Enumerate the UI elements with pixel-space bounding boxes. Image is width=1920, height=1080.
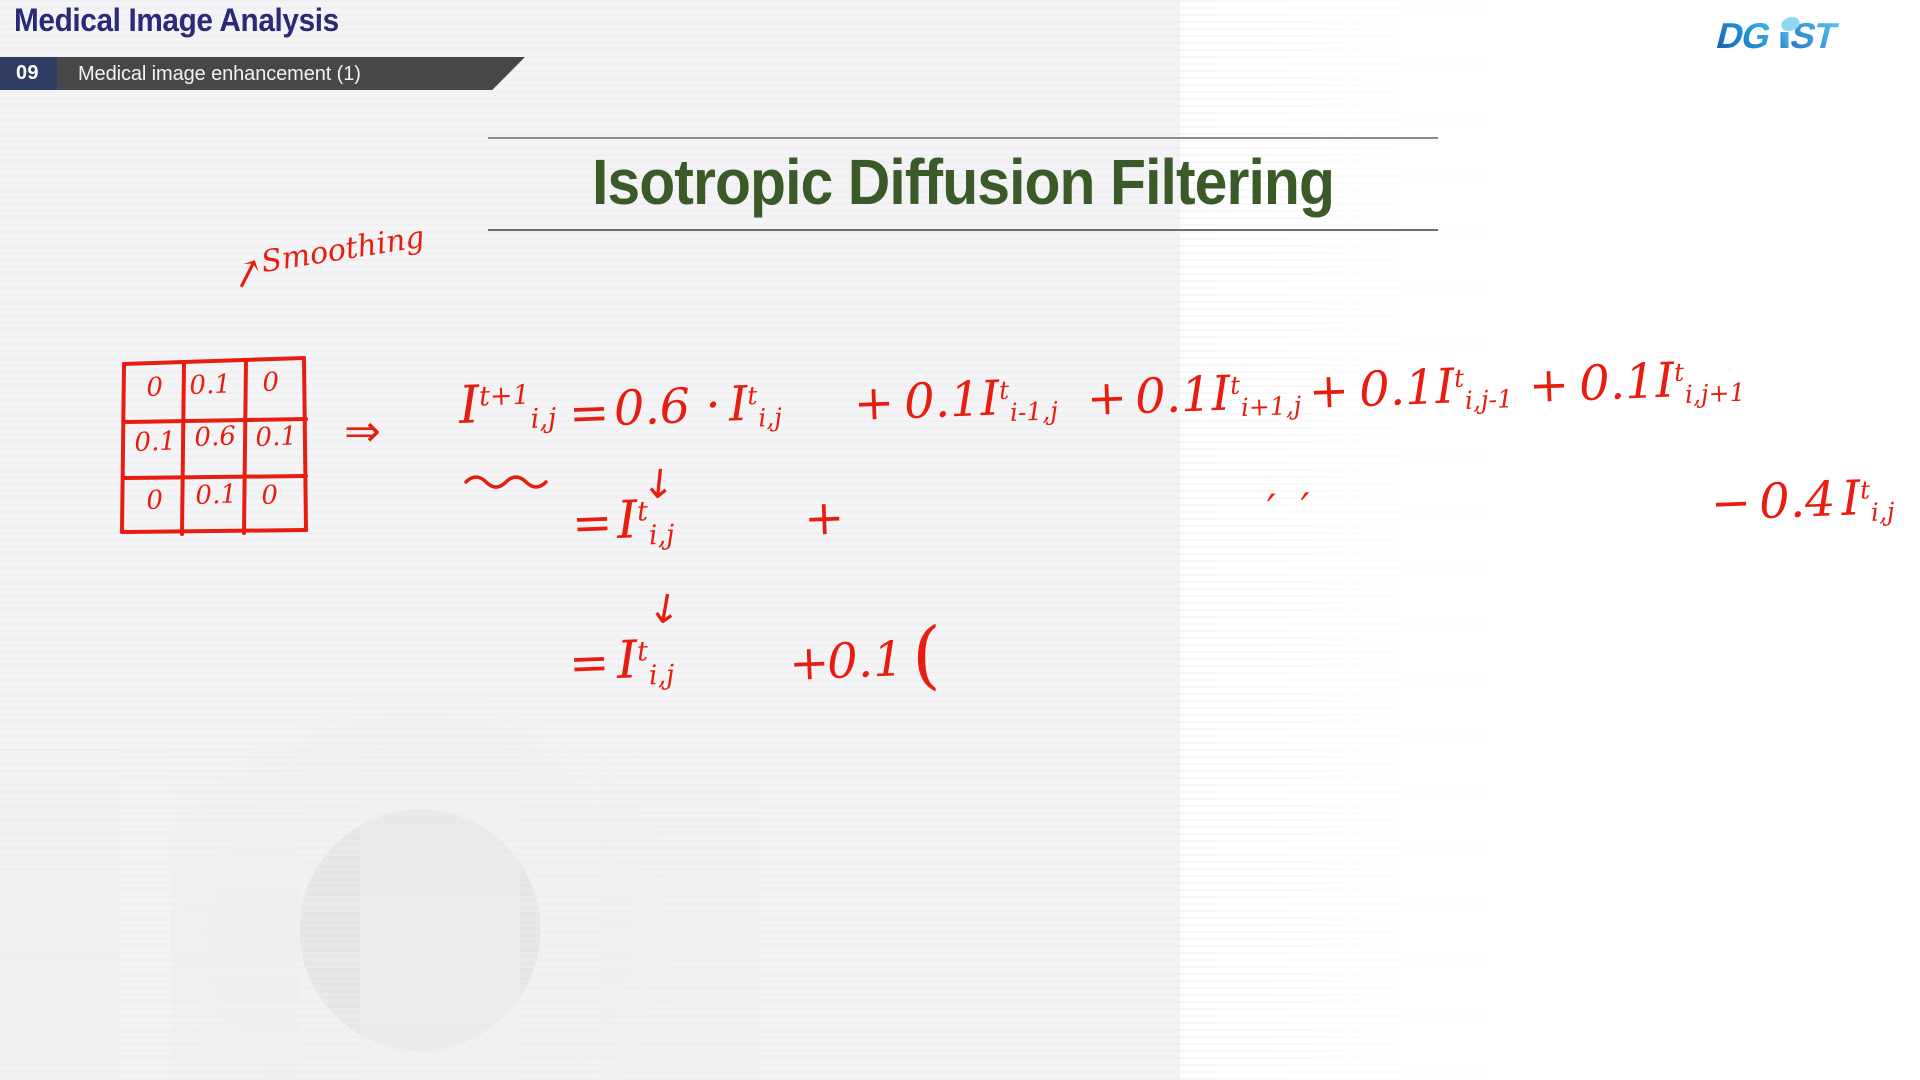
term-1-symbol: I	[979, 370, 1000, 427]
lhs-superscript: t+1	[478, 380, 530, 413]
handwriting-ink-layer: ↗ Smoothing 0 0.1 0 0.1 0.6 0.1 0 0.1 0 …	[0, 0, 1920, 1080]
term-3-superscript: t	[1453, 364, 1464, 393]
smoothing-label: Smoothing	[259, 223, 426, 278]
down-arrow-icon-2: ↓	[645, 587, 685, 632]
kernel-cell-1-2: 0.1	[255, 423, 297, 451]
lhs-subscript: i,j	[530, 403, 557, 435]
term-0-superscript: t	[747, 381, 758, 410]
line3-symbol: I	[616, 630, 639, 691]
lhs-symbol: I	[458, 375, 481, 436]
term-2-superscript: t	[1229, 371, 1240, 400]
term-0-symbol: I	[728, 376, 749, 433]
term-0-coef: 0.6 ·	[613, 377, 722, 437]
kernel-cell-0-2: 0	[262, 369, 280, 396]
term-3-op: +	[1308, 362, 1350, 420]
kernel-cell-1-0: 0.1	[134, 428, 176, 456]
equation-line-3-op: +	[788, 638, 830, 688]
term-2-coef: 0.1	[1134, 366, 1212, 425]
term-2-symbol: I	[1210, 366, 1231, 423]
right-term-superscript: t	[1859, 475, 1870, 504]
equation-line-2-trailing-op: +	[803, 493, 845, 543]
line2-superscript: t	[636, 496, 648, 527]
term-3-symbol: I	[1434, 358, 1455, 415]
line2-subscript: i,j	[648, 519, 675, 551]
term-1-op: +	[853, 374, 895, 432]
line3-superscript: t	[636, 636, 648, 667]
term-3-coef: 0.1	[1358, 359, 1436, 418]
term-1-superscript: t	[998, 376, 1009, 405]
line3-subscript: i,j	[648, 659, 675, 691]
equation-line-2-term: Iti,j	[616, 493, 675, 551]
equation-line-3-coef: 0.1	[826, 635, 904, 686]
equation-line-1-term-3: +0.1Iti,j-1	[1308, 360, 1513, 420]
kernel-cell-2-1: 0.1	[195, 481, 237, 509]
term-1-coef: 0.1	[903, 371, 981, 430]
tick-marks: ′ ′	[1266, 488, 1316, 530]
section-number: 09	[16, 62, 39, 85]
equation-line-3-open-paren: (	[912, 618, 941, 692]
section-label: Medical image enhancement (1)	[78, 63, 361, 86]
equation-line-2-equals: =	[571, 498, 613, 548]
right-trailing-term: −0.4Iti,j	[1710, 473, 1895, 532]
equation-line-3-term: Iti,j	[616, 633, 675, 691]
equation-line-1-term-1: +0.1Iti-1,j	[853, 372, 1058, 432]
kernel-cell-2-0: 0	[146, 487, 164, 514]
equation-line-1-lhs: It+1i,j	[458, 376, 557, 435]
term-4-op: +	[1528, 356, 1570, 414]
right-term-coef: 0.4	[1758, 471, 1836, 530]
equation-line-1-term-2: +0.1Iti+1,j	[1086, 367, 1302, 427]
kernel-cell-1-1: 0.6	[194, 423, 236, 451]
term-4-coef: 0.1	[1578, 353, 1656, 412]
term-1-subscript: i-1,j	[1009, 396, 1058, 427]
equation-line-3-equals: =	[568, 638, 610, 688]
right-term-subscript: i,j	[1870, 497, 1895, 527]
term-2-op: +	[1086, 369, 1128, 427]
term-4-symbol: I	[1654, 352, 1675, 409]
implies-arrow-icon: ⇒	[344, 410, 381, 454]
right-term-op: −	[1710, 474, 1752, 532]
term-0-subscript: i,j	[758, 403, 783, 433]
kernel-cell-0-0: 0	[146, 374, 164, 401]
term-4-subscript: i,j+1	[1684, 378, 1746, 409]
equation-line-1-term-4: +0.1Iti,j+1	[1528, 354, 1746, 414]
line2-symbol: I	[616, 490, 639, 551]
right-term-symbol: I	[1840, 470, 1861, 527]
lhs-underline-squiggle	[462, 470, 552, 492]
kernel-cell-2-2: 0	[261, 482, 279, 509]
equation-line-1-term-0: 0.6 ·Iti,j	[613, 379, 782, 437]
term-3-subscript: i,j-1	[1464, 384, 1513, 415]
equation-line-1-equals: =	[568, 388, 610, 438]
kernel-cell-0-1: 0.1	[189, 371, 231, 399]
term-2-subscript: i+1,j	[1240, 391, 1302, 422]
term-4-superscript: t	[1673, 358, 1684, 387]
